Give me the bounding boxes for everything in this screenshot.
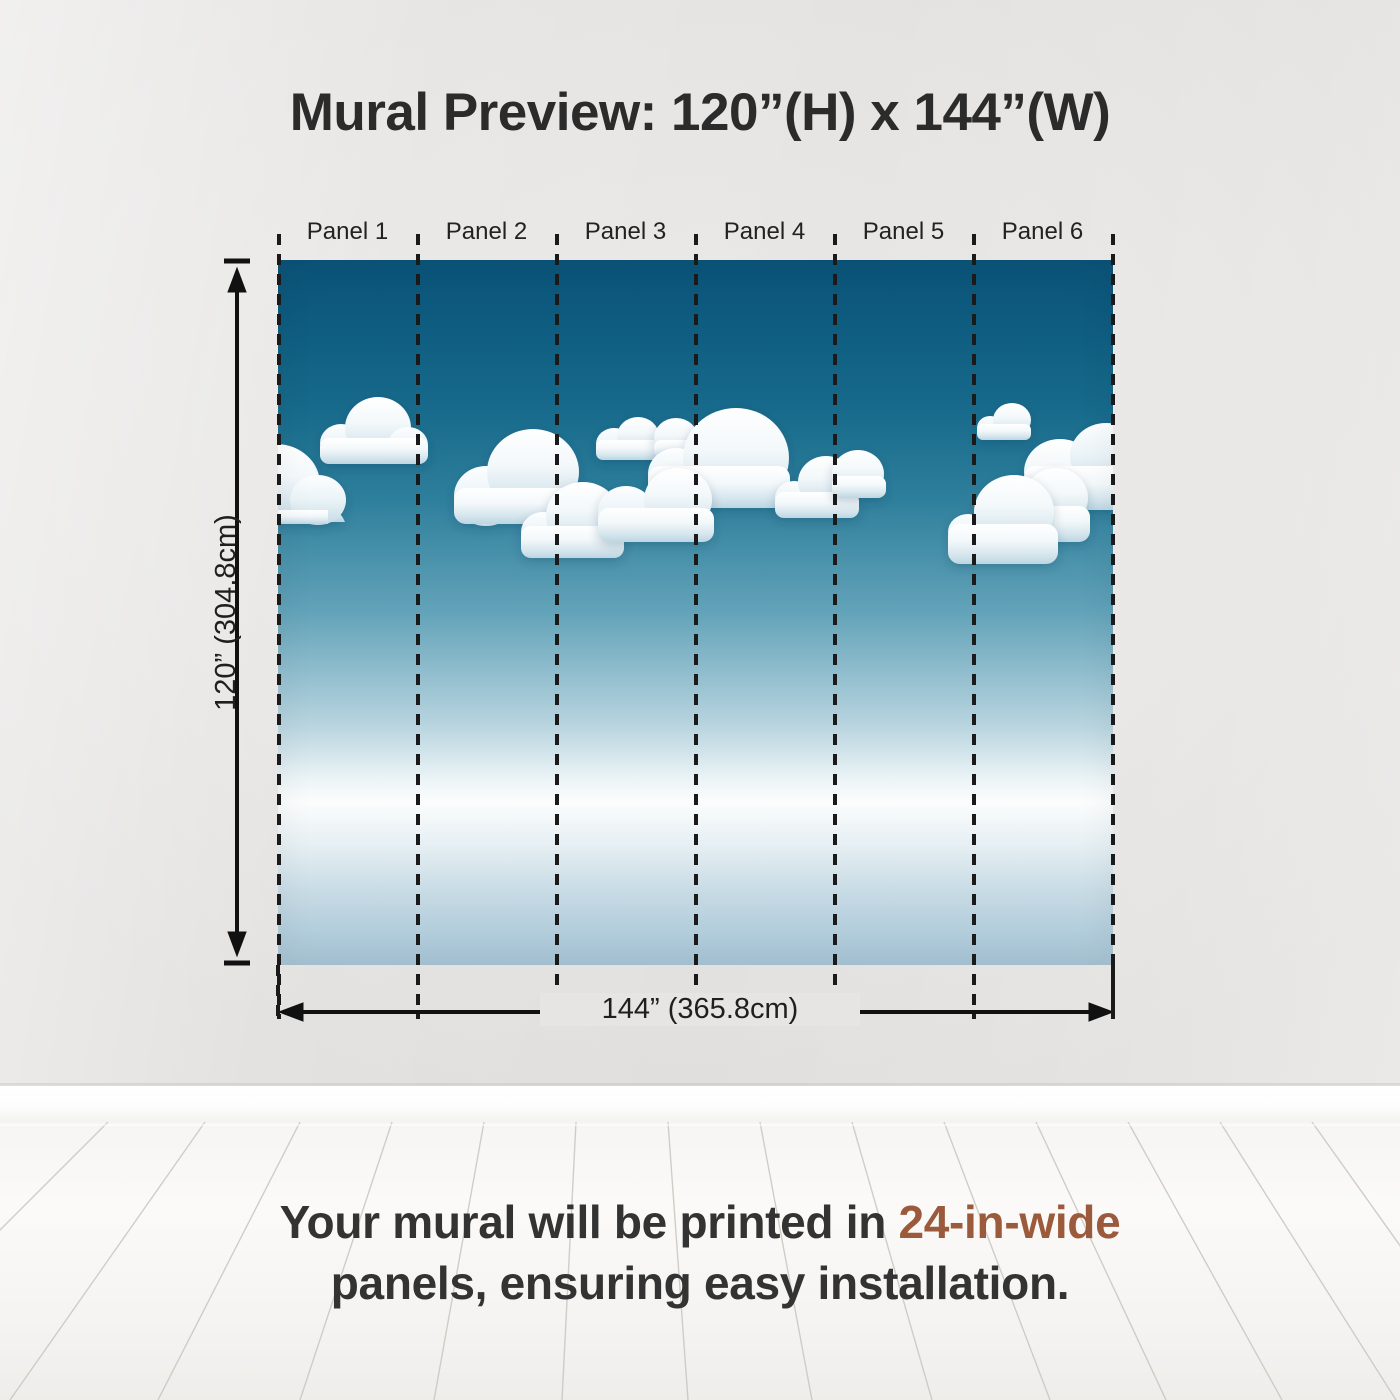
cloud-layer: [278, 260, 1113, 965]
panel-label-5: Panel 5: [834, 218, 973, 246]
caption-line1-prefix: Your mural will be printed in: [280, 1196, 899, 1248]
width-dimension-label: 144” (365.8cm): [540, 993, 860, 1026]
caption-line-1: Your mural will be printed in 24-in-wide: [100, 1192, 1300, 1253]
panel-label-2: Panel 2: [417, 218, 556, 246]
baseboard: [0, 1086, 1400, 1124]
cloud-panel3-lower: [598, 468, 714, 542]
mural-preview-screenshot: Mural Preview: 120”(H) x 144”(W): [0, 0, 1400, 1400]
panel-label-1: Panel 1: [278, 218, 417, 246]
caption-text: Your mural will be printed in 24-in-wide…: [100, 1192, 1300, 1314]
cloud-panel1: [320, 397, 428, 464]
panel-label-3: Panel 3: [556, 218, 695, 246]
cloud-panel6-lower: [948, 475, 1058, 564]
caption-accent-text: 24-in-wide: [898, 1196, 1120, 1248]
panel-label-4: Panel 4: [695, 218, 834, 246]
height-dimension-text: 120” (304.8cm): [210, 514, 243, 711]
mural-artwork[interactable]: [278, 260, 1113, 965]
caption-line-2: panels, ensuring easy installation.: [100, 1253, 1300, 1314]
page-title: Mural Preview: 120”(H) x 144”(W): [0, 82, 1400, 143]
cloud-panel6-small: [977, 403, 1031, 440]
cloud-panel5-small-2: [832, 450, 886, 498]
cloud-panel3-small: [596, 417, 660, 460]
height-dimension-label: 120” (304.8cm): [196, 482, 256, 742]
panel-label-6: Panel 6: [973, 218, 1112, 246]
